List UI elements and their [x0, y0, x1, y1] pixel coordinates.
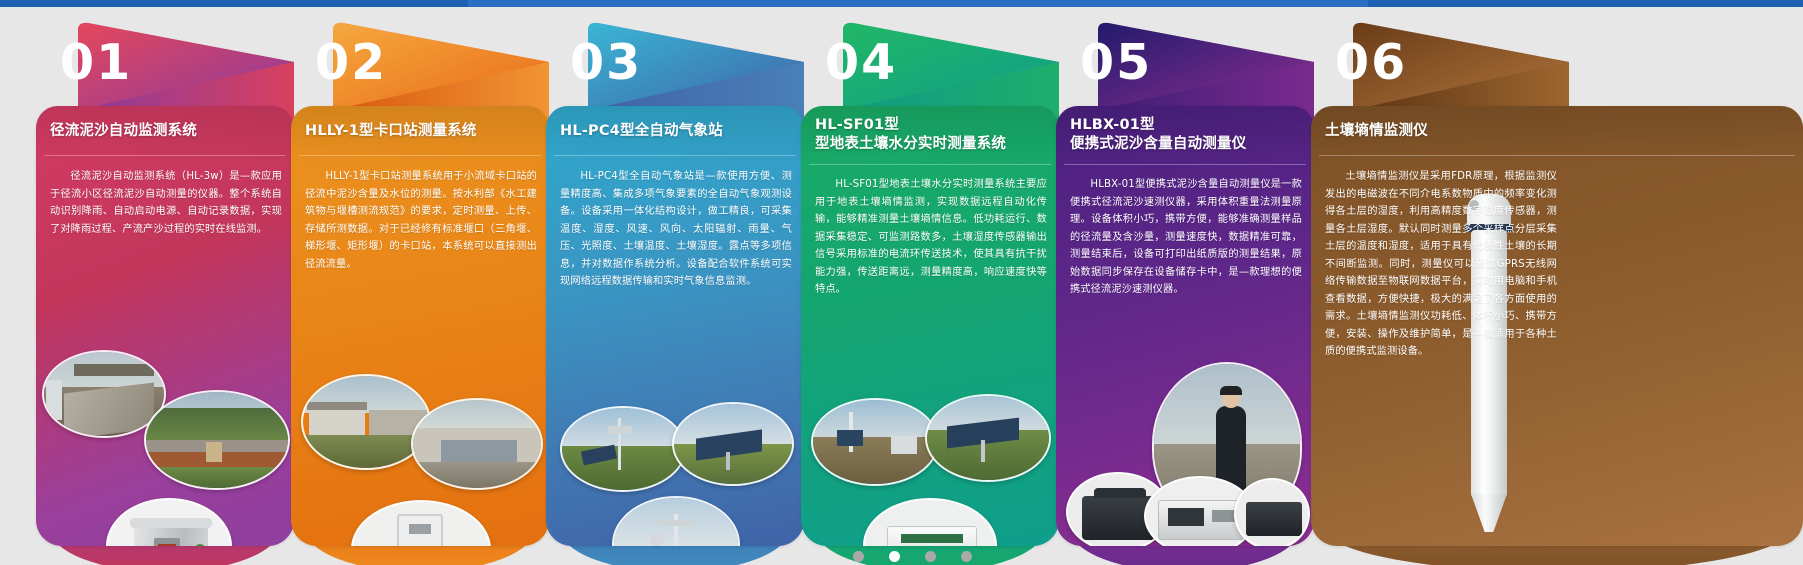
- photo-soil-probe-installation: [925, 394, 1051, 482]
- card-body-03: HL-PC4型全自动气象站 HL-PC4型全自动气象站是—款使用方便、测量精度高…: [546, 106, 804, 546]
- photo-hl-sf01-device-panel: [863, 498, 997, 546]
- card-title-04-line2: 型地表土壤水分实时测量系统: [815, 135, 1045, 154]
- card-title-05-line2: 便携式泥沙含量自动测量仪: [1070, 135, 1300, 154]
- card-description-02: HLLY-1型卡口站测量系统用于小流域卡口站的径流中泥沙含量及水位的测量。按水利…: [305, 168, 537, 273]
- carousel-stage: 01 径流泥沙自动监测系统 径流泥沙自动监测系统（HL-3w）是—款应用于径流小…: [0, 0, 1803, 565]
- photo-solar-panel-array: [672, 402, 794, 486]
- photo-runoff-plot-field: [144, 390, 290, 490]
- card-title-divider-02: [299, 155, 541, 156]
- card-title-divider-05: [1064, 164, 1306, 165]
- product-card-06[interactable]: 06 土壤墒情监测仪 土壤墒情监测仪是采用FDR原理，根据监测仪发出的电磁波在不…: [1311, 14, 1803, 565]
- card-title-02: HLLY-1型卡口站测量系统: [291, 122, 549, 141]
- photo-weir-channel: [411, 398, 543, 490]
- photo-soil-moisture-field-station: [811, 398, 939, 486]
- card-title-divider-03: [554, 155, 796, 156]
- product-card-03[interactable]: 03 HL-PC4型全自动气象站 HL-PC4型全自动气象站是—款使用方便、测量…: [546, 14, 804, 565]
- card-body-05: HLBX-01型 便携式泥沙含量自动测量仪 HLBX-01型便携式泥沙含量自动测…: [1056, 106, 1314, 546]
- pagination-dot-4[interactable]: [961, 551, 972, 562]
- card-body-04: HL-SF01型 型地表土壤水分实时测量系统 HL-SF01型地表土壤水分实时测…: [801, 106, 1059, 546]
- carousel-pagination[interactable]: [853, 551, 972, 562]
- card-title-06: 土壤墒情监测仪: [1311, 122, 1803, 141]
- card-description-06: 土壤墒情监测仪是采用FDR原理，根据监测仪发出的电磁波在不同介电系数物质中的频率…: [1325, 168, 1557, 361]
- photo-sediment-unit-secondary: [1234, 478, 1310, 546]
- photo-control-cabinet: [351, 500, 491, 546]
- card-title-03: HL-PC4型全自动气象站: [546, 122, 804, 141]
- pagination-dot-1[interactable]: [853, 551, 864, 562]
- product-card-05[interactable]: 05 HLBX-01型 便携式泥沙含量自动测量仪 HLBX-01型便携式泥沙含量…: [1056, 14, 1314, 565]
- pagination-dot-2[interactable]: [889, 551, 900, 562]
- card-title-04: HL-SF01型 型地表土壤水分实时测量系统: [801, 116, 1059, 154]
- photo-sediment-sampler-tank: [106, 498, 232, 546]
- card-title-05: HLBX-01型 便携式泥沙含量自动测量仪: [1056, 116, 1314, 154]
- card-title-divider-04: [809, 164, 1051, 165]
- card-photos-04: [801, 106, 1059, 546]
- card-title-05-line1: HLBX-01型: [1070, 116, 1300, 135]
- card-body-06: 土壤墒情监测仪 土壤墒情监测仪是采用FDR原理，根据监测仪发出的电磁波在不同介电…: [1311, 106, 1803, 546]
- card-title-divider-06: [1319, 155, 1795, 156]
- photo-anemometer-sensor: [612, 496, 740, 546]
- card-description-05: HLBX-01型便携式泥沙含量自动测量仪是一款便携式径流泥沙速测仪器，采用体积重…: [1070, 176, 1302, 299]
- card-title-01: 径流泥沙自动监测系统: [36, 122, 294, 141]
- photo-gauging-station-building: [301, 374, 431, 470]
- pagination-dot-3[interactable]: [925, 551, 936, 562]
- card-title-divider-01: [44, 155, 286, 156]
- top-accent-bar: [0, 0, 1803, 7]
- product-card-02[interactable]: 02 HLLY-1型卡口站测量系统 HLLY-1型卡口站测量系统用于小流域卡口站…: [291, 14, 549, 565]
- product-card-04[interactable]: 04 HL-SF01型 型地表土壤水分实时测量系统 HL-SF01型地表土壤水分…: [801, 14, 1059, 565]
- card-description-04: HL-SF01型地表土壤水分实时测量系统主要应用于地表土壤墒情监测，实现数据远程…: [815, 176, 1047, 299]
- card-description-03: HL-PC4型全自动气象站是—款使用方便、测量精度高、集成多项气象要素的全自动气…: [560, 168, 792, 291]
- photo-weather-station-mast: [560, 406, 686, 492]
- card-body-01: 径流泥沙自动监测系统 径流泥沙自动监测系统（HL-3w）是—款应用于径流小区径流…: [36, 106, 294, 546]
- card-title-04-line1: HL-SF01型: [815, 116, 1045, 135]
- product-card-01[interactable]: 01 径流泥沙自动监测系统 径流泥沙自动监测系统（HL-3w）是—款应用于径流小…: [36, 14, 294, 565]
- card-description-01: 径流泥沙自动监测系统（HL-3w）是—款应用于径流小区径流泥沙自动测量的仪器。整…: [50, 168, 282, 238]
- card-photos-05: [1056, 106, 1314, 546]
- card-body-02: HLLY-1型卡口站测量系统 HLLY-1型卡口站测量系统用于小流域卡口站的径流…: [291, 106, 549, 546]
